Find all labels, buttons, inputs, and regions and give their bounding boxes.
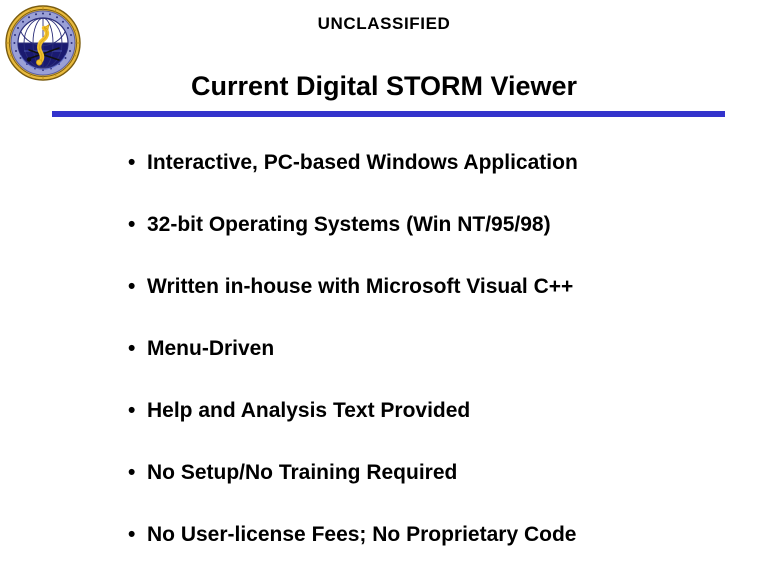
list-item-label: No User-license Fees; No Proprietary Cod…	[147, 523, 576, 546]
list-item: • Help and Analysis Text Provided	[128, 398, 748, 424]
list-item: • Menu-Driven	[128, 336, 748, 362]
bullet-marker-icon: •	[128, 150, 135, 176]
classification-marking: UNCLASSIFIED	[0, 14, 768, 34]
list-item: • No User-license Fees; No Proprietary C…	[128, 522, 748, 548]
bullet-marker-icon: •	[128, 522, 135, 548]
list-item-label: Interactive, PC-based Windows Applicatio…	[147, 151, 578, 174]
bullet-marker-icon: •	[128, 274, 135, 300]
bullet-marker-icon: •	[128, 336, 135, 362]
list-item-label: Menu-Driven	[147, 337, 274, 360]
list-item-label: 32-bit Operating Systems (Win NT/95/98)	[147, 213, 551, 236]
bullet-marker-icon: •	[128, 212, 135, 238]
list-item: • Written in-house with Microsoft Visual…	[128, 274, 748, 300]
title-divider	[52, 111, 725, 117]
list-item-label: No Setup/No Training Required	[147, 461, 457, 484]
bullet-marker-icon: •	[128, 460, 135, 486]
list-item: • Interactive, PC-based Windows Applicat…	[128, 150, 748, 176]
list-item-label: Help and Analysis Text Provided	[147, 399, 470, 422]
list-item: • 32-bit Operating Systems (Win NT/95/98…	[128, 212, 748, 238]
list-item-label: Written in-house with Microsoft Visual C…	[147, 275, 573, 298]
slide: UNCLASSIFIED Current Digital STORM Viewe…	[0, 0, 768, 576]
page-title: Current Digital STORM Viewer	[0, 71, 768, 102]
list-item: • No Setup/No Training Required	[128, 460, 748, 486]
bullet-list: • Interactive, PC-based Windows Applicat…	[128, 150, 748, 548]
bullet-marker-icon: •	[128, 398, 135, 424]
